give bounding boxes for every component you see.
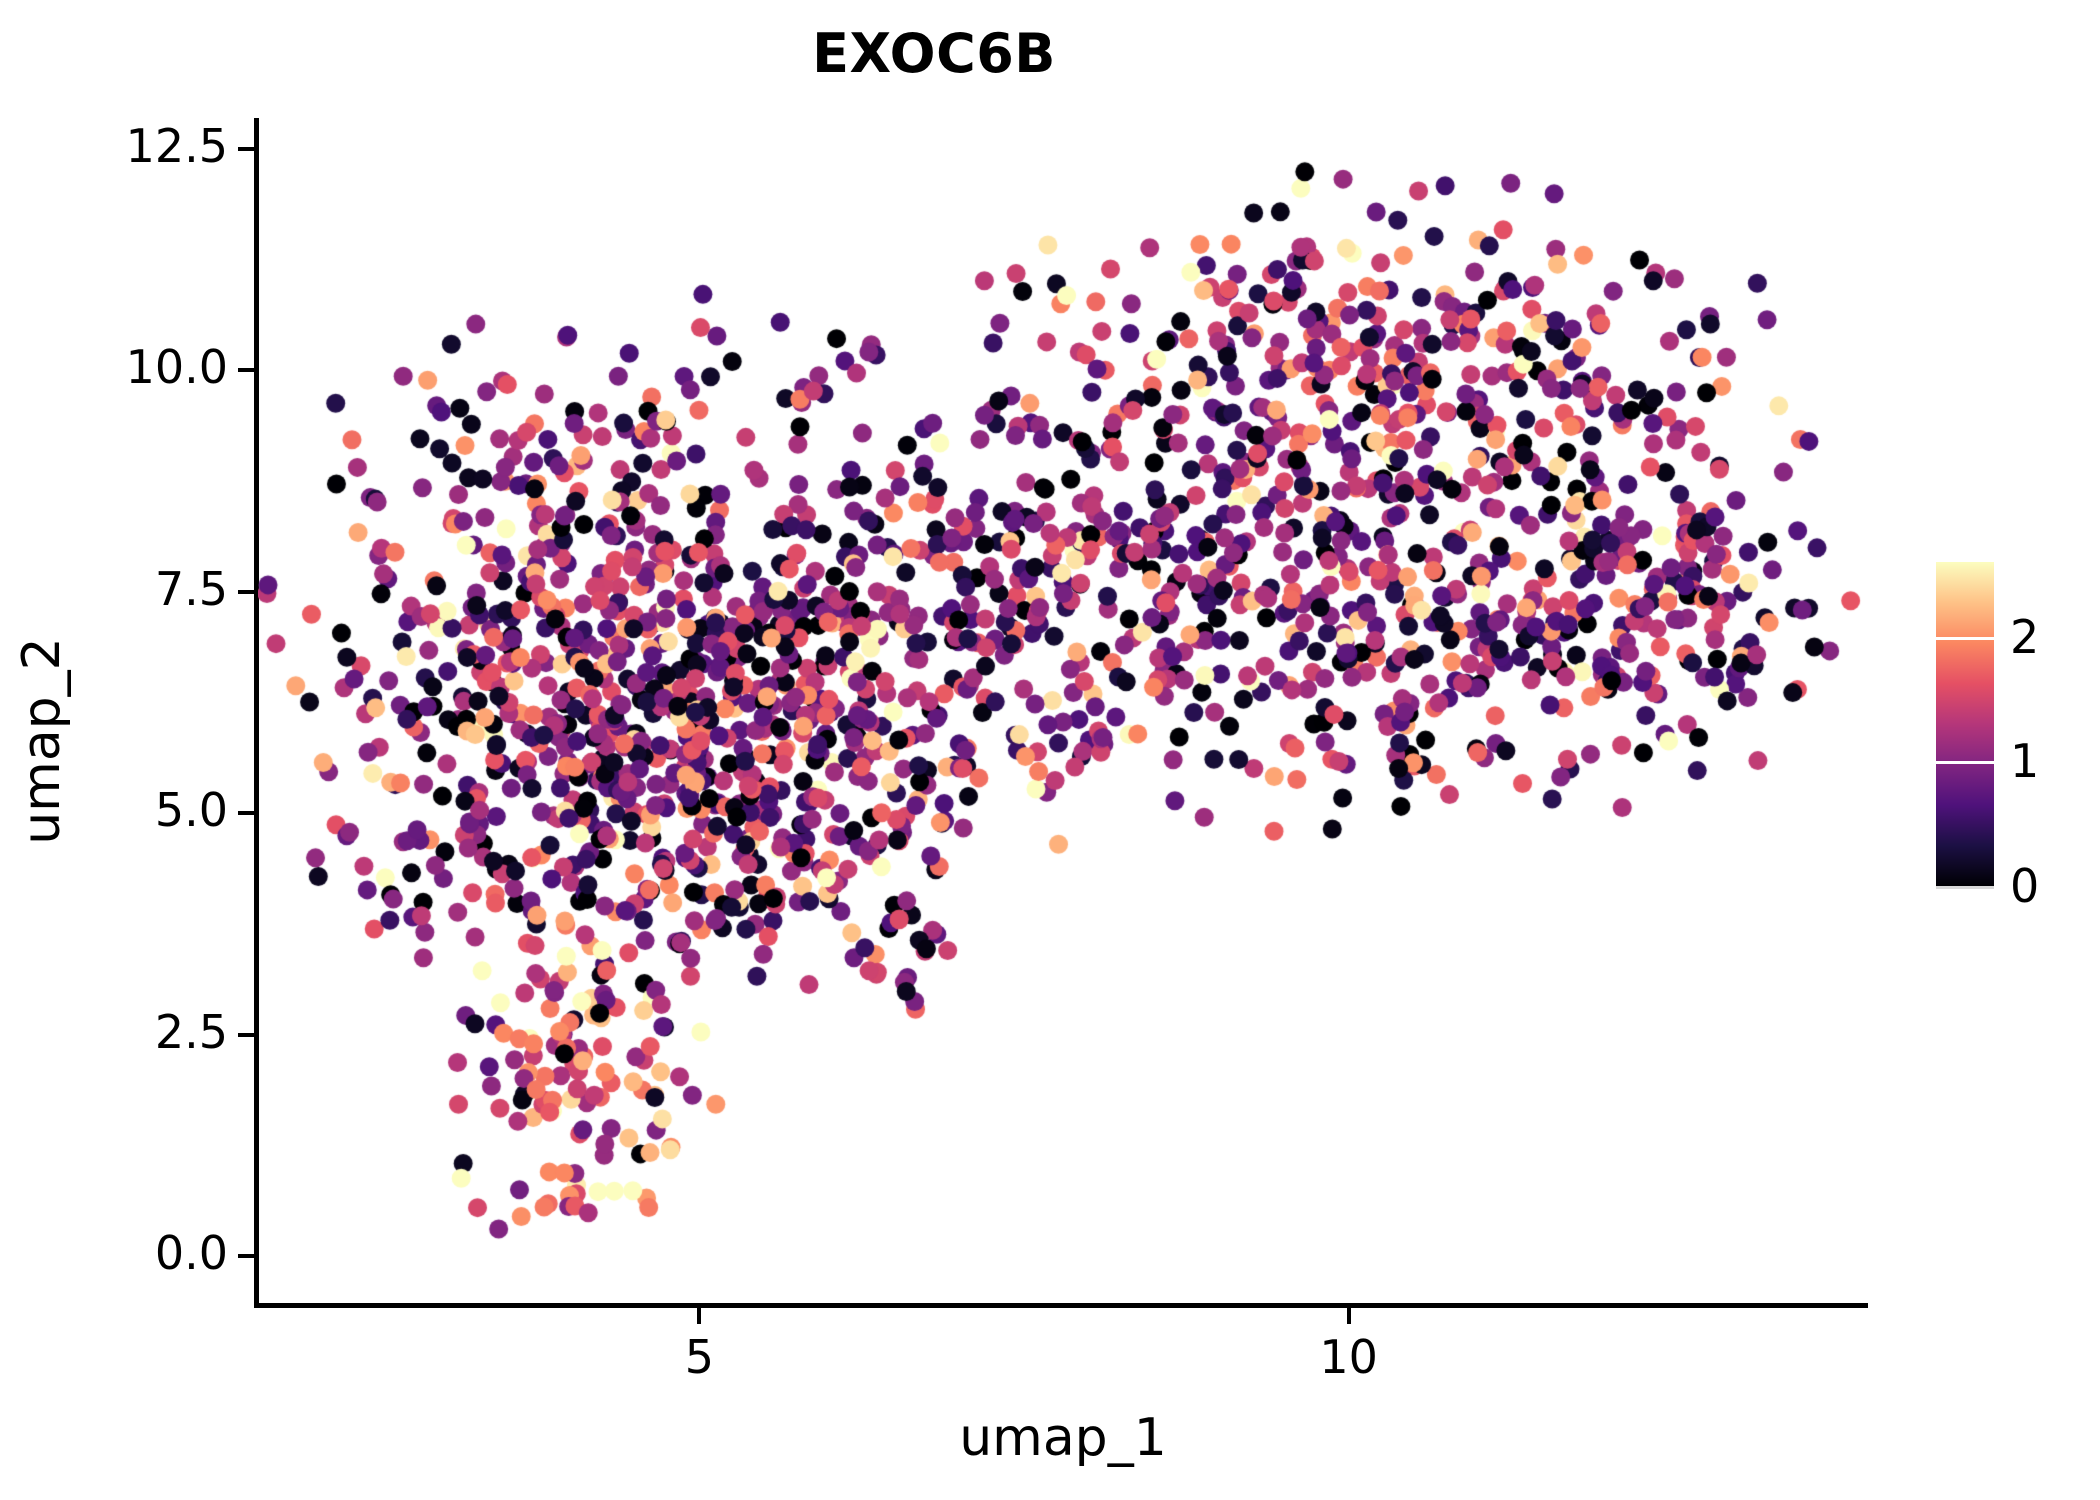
colorbar-tick-mark xyxy=(1936,637,1994,640)
page-title: EXOC6B xyxy=(0,22,1868,85)
y-axis-title: umap_2 xyxy=(12,441,72,1041)
y-tick-mark xyxy=(238,590,254,594)
colorbar-tick-label: 2 xyxy=(2010,610,2039,664)
y-tick-label: 10.0 xyxy=(0,340,228,394)
x-tick-label: 5 xyxy=(685,1330,714,1384)
plot-area xyxy=(258,118,1868,1305)
umap-scatter-figure: EXOC6B 0.02.55.07.510.012.5 510 umap_1 u… xyxy=(0,0,2100,1500)
colorbar-tick-mark xyxy=(1936,761,1994,764)
x-axis-title: umap_1 xyxy=(258,1408,1868,1468)
y-tick-mark xyxy=(238,147,254,151)
y-tick-mark xyxy=(238,1033,254,1037)
colorbar-tick-mark xyxy=(1936,886,1994,889)
x-tick-mark xyxy=(1347,1308,1351,1324)
colorbar-gradient xyxy=(1936,562,1994,886)
y-tick-mark xyxy=(238,368,254,372)
colorbar xyxy=(1936,562,1994,886)
y-tick-label: 0.0 xyxy=(0,1226,228,1280)
y-tick-label: 12.5 xyxy=(0,119,228,173)
scatter-points-canvas xyxy=(258,118,1868,1305)
colorbar-tick-label: 1 xyxy=(2010,734,2039,788)
x-tick-mark xyxy=(697,1308,701,1324)
y-tick-mark xyxy=(238,811,254,815)
colorbar-tick-label: 0 xyxy=(2010,859,2039,913)
y-tick-mark xyxy=(238,1254,254,1258)
x-tick-label: 10 xyxy=(1319,1330,1378,1384)
